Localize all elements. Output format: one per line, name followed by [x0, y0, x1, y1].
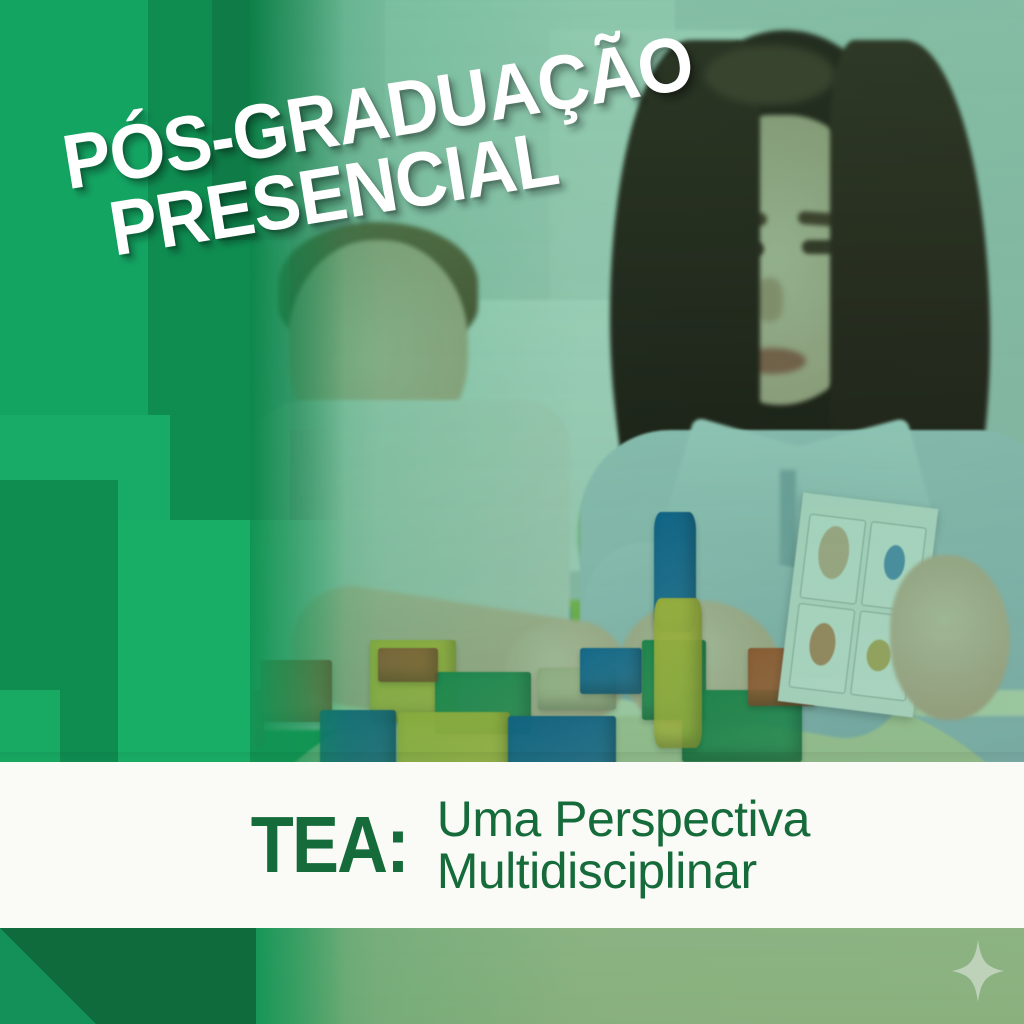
course-subtitle-line-2: Multidisciplinar [437, 845, 810, 897]
course-subtitle-line-1: Uma Perspectiva [437, 793, 810, 845]
sparkle-icon [952, 940, 1004, 1002]
course-acronym: TEA: [251, 805, 408, 885]
title-band: TEA: Uma Perspectiva Multidisciplinar [0, 762, 1024, 928]
title-band-content: TEA: Uma Perspectiva Multidisciplinar [214, 793, 810, 897]
promo-poster: PÓS-GRADUAÇÃO PRESENCIAL TEA: Uma Perspe… [0, 0, 1024, 1024]
course-subtitle: Uma Perspectiva Multidisciplinar [437, 793, 810, 897]
